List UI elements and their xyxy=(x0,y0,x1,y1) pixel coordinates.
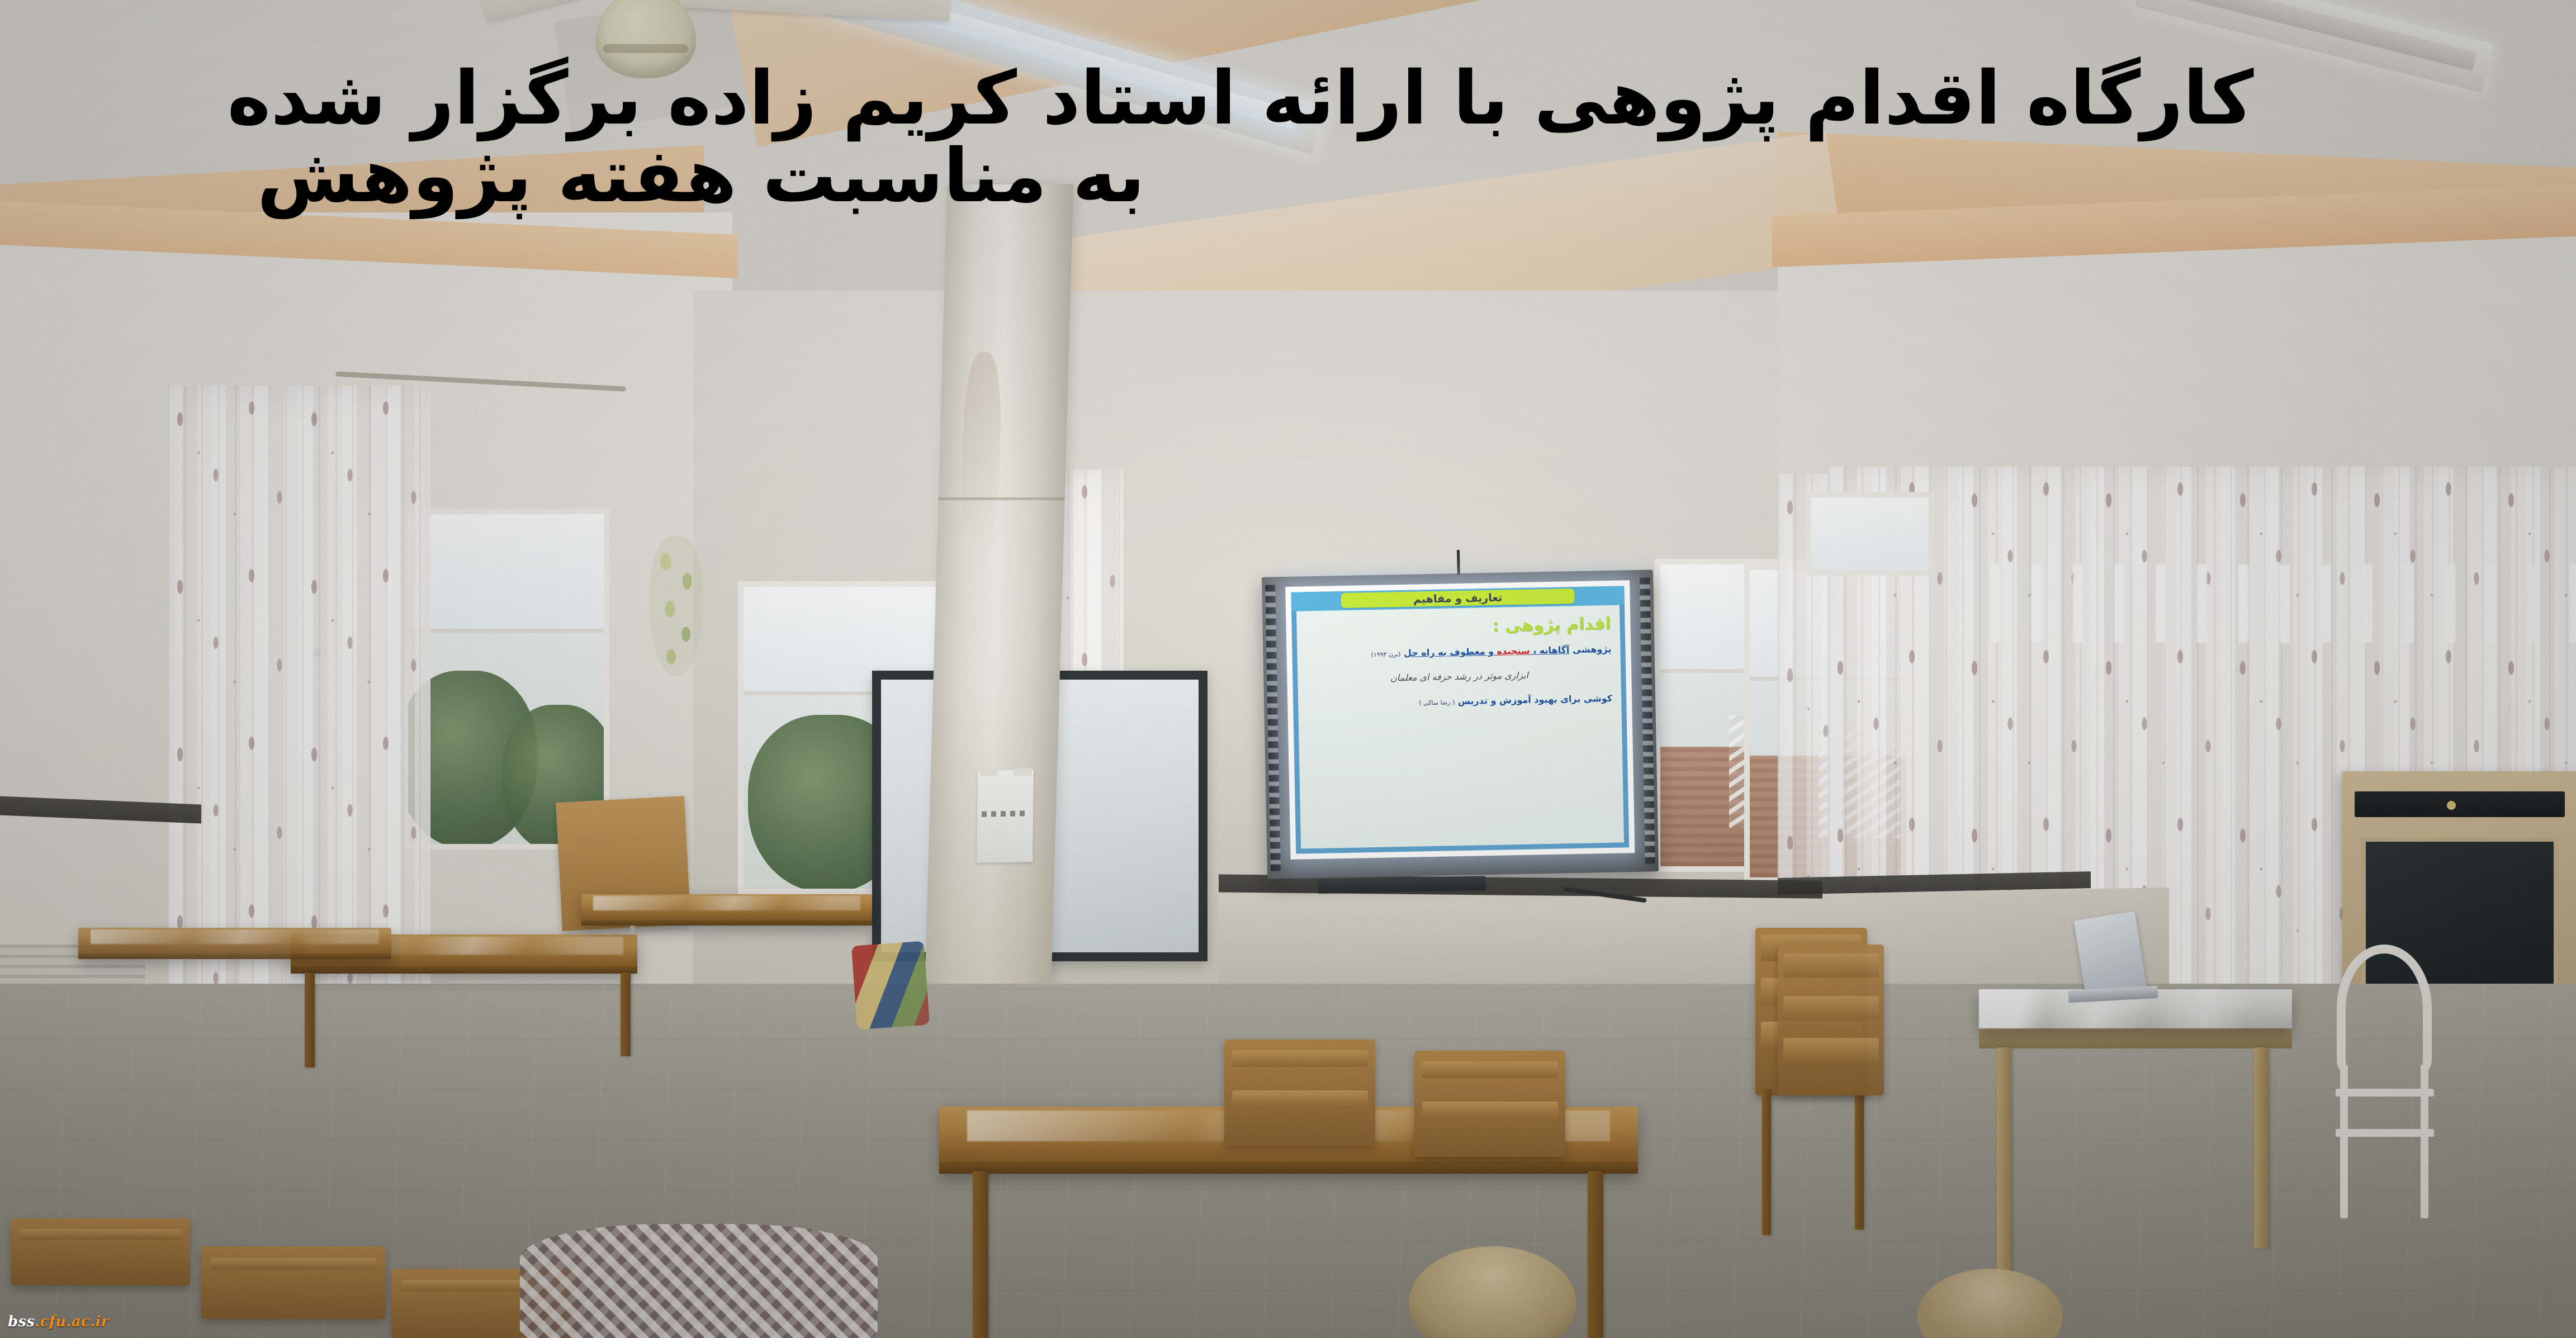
slide-bullet-1-part-c: و معطوف به راه حل xyxy=(1404,646,1497,658)
projection-screen: تعاریف و مفاهیم اقدام پژوهی : پژوهشی آگا… xyxy=(1285,580,1635,860)
bag xyxy=(851,941,930,1030)
metal-chair[interactable] xyxy=(2331,945,2437,1213)
desk xyxy=(78,928,391,959)
slide-body: اقدام پژوهی : پژوهشی آگاهانه ، سنجیده و … xyxy=(1296,605,1622,727)
wall-plant-icon xyxy=(650,537,703,676)
slide-bullet-2: ابزاری موثر در رشد حرفه ای معلمان xyxy=(1306,667,1612,686)
slide-bullet-1-part-a: پژوهشی xyxy=(1569,644,1611,655)
slide-bullet-1-highlight: سنجیده xyxy=(1497,646,1529,657)
table-leg xyxy=(2254,1047,2269,1249)
posted-paper-note xyxy=(977,770,1034,863)
site-watermark: bss.cfu.ac.ir xyxy=(8,1313,109,1330)
curtain xyxy=(168,386,430,1000)
cabinet-top-band xyxy=(2355,791,2565,817)
curtain-light-slats xyxy=(1990,564,2576,643)
whiteboard-side-rail xyxy=(1640,577,1655,863)
whiteboard-hanger xyxy=(1457,550,1460,575)
slide-heading: اقدام پژوهی : xyxy=(1305,614,1611,639)
slide-bullet-1: پژوهشی آگاهانه ، سنجیده و معطوف به راه ح… xyxy=(1306,643,1611,662)
desk-leg xyxy=(1588,1171,1603,1338)
ceiling-fan-icon xyxy=(595,0,696,78)
tape-strip xyxy=(979,768,998,776)
chair[interactable] xyxy=(1224,1040,1375,1146)
cabinet-knob-icon[interactable] xyxy=(2447,801,2456,810)
desk xyxy=(581,894,872,926)
slide-bullet-3: کوشی برای بهبود آموزش و تدریس ( رضا ساکی… xyxy=(1307,692,1612,711)
table-leg xyxy=(1997,1047,2011,1288)
chair-leg xyxy=(1855,1090,1864,1230)
laptop-icon[interactable] xyxy=(2074,911,2147,998)
slide-bullet-3-citation: ( رضا ساکی ) xyxy=(1419,699,1455,706)
presenter-table-apron xyxy=(1979,1026,2292,1048)
chair[interactable] xyxy=(1778,945,1884,1095)
structural-column xyxy=(922,184,1074,1079)
window xyxy=(402,509,609,850)
slide-bullet-3-text: کوشی برای بهبود آموزش و تدریس xyxy=(1458,693,1613,706)
slide-bullet-1-part-b: آگاهانه ، xyxy=(1529,644,1569,656)
patterned-coat xyxy=(520,1224,878,1338)
chair[interactable] xyxy=(11,1218,190,1285)
watermark-prefix: bss xyxy=(8,1313,35,1330)
watermark-domain: .cfu.ac.ir xyxy=(35,1313,108,1330)
desk-leg xyxy=(973,1171,988,1338)
chair-leg xyxy=(1762,1090,1771,1235)
chair[interactable] xyxy=(1414,1051,1565,1157)
window xyxy=(1806,492,1934,576)
whiteboard-side-rail xyxy=(1265,585,1281,871)
desk-leg xyxy=(305,972,315,1067)
tape-strip xyxy=(1013,768,1032,776)
desk-leg xyxy=(621,972,631,1056)
slide-bullet-1-citation: (برن ۱۹۹۳) xyxy=(1371,651,1400,658)
classroom-photo: تعاریف و مفاهیم اقدام پژوهی : پژوهشی آگا… xyxy=(0,0,2576,1338)
presentation-slide: تعاریف و مفاهیم اقدام پژوهی : پژوهشی آگا… xyxy=(1291,586,1629,853)
chair[interactable] xyxy=(201,1246,386,1319)
slide-title: تعاریف و مفاهیم xyxy=(1341,589,1575,608)
interactive-whiteboard[interactable]: تعاریف و مفاهیم اقدام پژوهی : پژوهشی آگا… xyxy=(1262,570,1659,879)
